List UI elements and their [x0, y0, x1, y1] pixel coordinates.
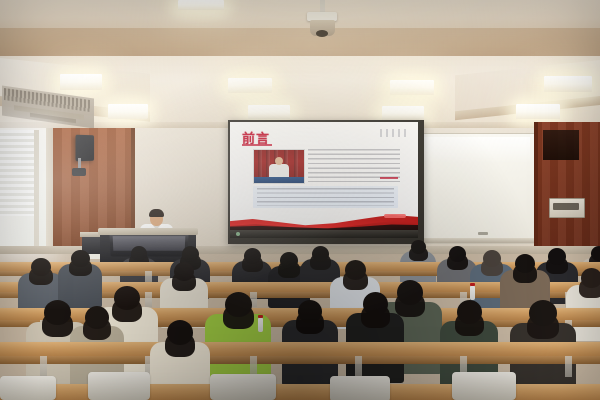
audience-member-head — [280, 252, 298, 269]
audience-member-head — [548, 248, 566, 265]
slide-corner-marks — [380, 129, 410, 137]
chair[interactable] — [88, 372, 150, 400]
desk-divider — [40, 356, 47, 377]
door-edge-right — [534, 122, 538, 250]
ceiling-light-panel — [228, 78, 272, 93]
slide-photo-speaker-head — [275, 157, 283, 165]
podium-surface — [98, 228, 198, 235]
window-frame — [46, 128, 53, 250]
chair[interactable] — [330, 376, 390, 400]
presenter-hair — [149, 209, 164, 217]
ceiling-light-panel — [108, 104, 148, 119]
ceiling-light-panel — [248, 105, 290, 119]
ceiling-light-panel — [60, 74, 102, 90]
ceiling-light-panel — [516, 104, 560, 119]
audience-member-head — [363, 292, 388, 316]
whiteboard-marking — [478, 232, 488, 235]
lecture-hall-photo: 前言 — [0, 0, 600, 400]
slide-title-underline — [242, 144, 272, 146]
audience-member-head — [85, 306, 109, 329]
window-mullion — [34, 130, 39, 250]
audience-member-head — [529, 300, 557, 326]
chair[interactable] — [210, 374, 276, 400]
slide-paragraph-2 — [257, 188, 394, 206]
projection-screen-status-led — [236, 232, 240, 236]
desk-front-panel — [0, 356, 600, 364]
audience-member-head — [345, 260, 366, 280]
audience-member-head — [174, 262, 194, 281]
audience-member-head — [31, 258, 51, 276]
audience-member-head — [515, 254, 535, 273]
water-bottle-cap — [258, 315, 263, 318]
desk-divider — [355, 356, 362, 377]
audience-member-head — [44, 300, 71, 325]
audience-member-head — [312, 246, 329, 262]
window-blind — [0, 130, 34, 216]
water-bottle — [470, 286, 475, 300]
ceiling-light-panel — [544, 76, 592, 92]
presentation-slide: 前言 — [230, 122, 418, 232]
audience-member-head — [483, 250, 501, 267]
projector-lens — [316, 30, 328, 37]
audience-member-head — [591, 246, 600, 261]
audience-member-head — [411, 240, 426, 254]
slide-photo-desk — [254, 177, 304, 183]
door-upper-recess — [543, 130, 579, 160]
audience-member-head — [131, 246, 147, 261]
control-panel-slot — [553, 203, 579, 210]
audience-member-head — [581, 268, 600, 288]
ceiling-light-panel — [390, 80, 434, 95]
audience-member-head — [298, 300, 322, 323]
speaker-bracket — [72, 168, 86, 176]
audience-member-head — [225, 292, 252, 317]
chair[interactable] — [452, 372, 516, 400]
ceiling-beam — [0, 28, 600, 58]
audience-member-head — [449, 246, 466, 262]
slide-paragraph-1-accent — [380, 177, 398, 179]
audience-member-head — [182, 246, 199, 262]
audience-member-head — [167, 320, 193, 345]
ceiling-upper-slab — [0, 0, 600, 30]
desk-divider — [565, 356, 572, 377]
audience-member-head — [244, 248, 261, 264]
ceiling-light-panel — [382, 106, 424, 120]
whiteboard-glare — [424, 137, 530, 163]
water-bottle-cap — [470, 283, 475, 286]
ceiling-light-panel — [178, 0, 224, 10]
slide-photo — [253, 149, 305, 184]
audience-member-head — [71, 250, 90, 267]
chair[interactable] — [0, 376, 56, 400]
projection-screen-housing — [230, 230, 418, 238]
audience-member-head — [457, 300, 482, 324]
slide-wave-highlight — [384, 214, 406, 218]
desk-row — [0, 342, 600, 356]
water-bottle — [258, 318, 263, 332]
